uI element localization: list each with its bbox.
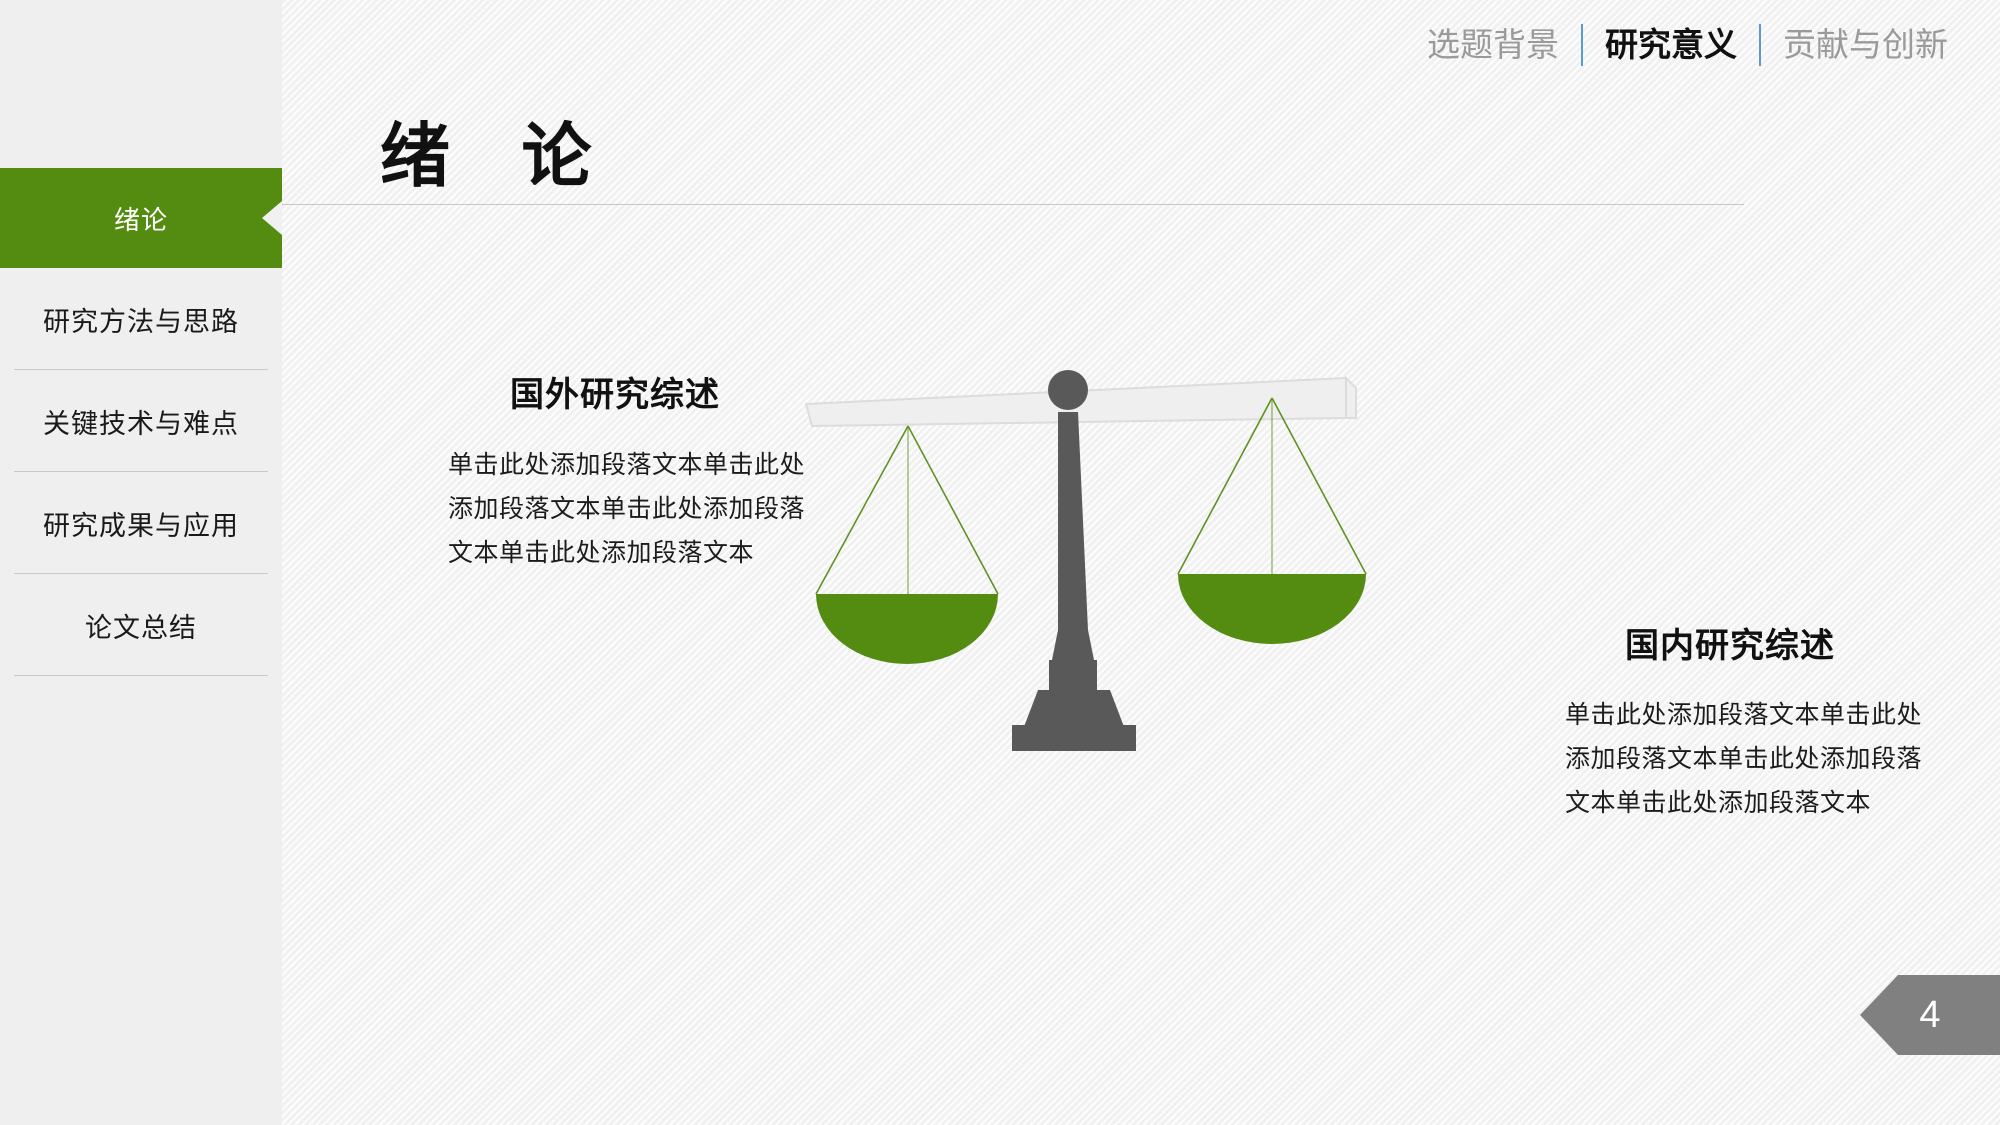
topnav-item-gongxian[interactable]: 贡献与创新: [1761, 24, 1970, 65]
scale-column-icon: [1049, 660, 1097, 690]
left-pan-strings-icon: [816, 426, 998, 594]
sidebar-item-label: 研究方法与思路: [43, 300, 239, 339]
sidebar-item-label: 绪论: [114, 200, 168, 237]
sidebar-item-xulun[interactable]: 绪论: [0, 168, 282, 268]
sidebar-item-label: 论文总结: [85, 606, 197, 645]
sidebar-item-label: 关键技术与难点: [43, 402, 239, 441]
scale-pillar-icon: [1050, 412, 1096, 670]
slide-canvas: 绪论 研究方法与思路 关键技术与难点 研究成果与应用 论文总结 选题背景 研究意…: [0, 0, 2000, 1125]
scale-base-plinth-icon: [1012, 725, 1136, 751]
sidebar-item-lunwenzongjie[interactable]: 论文总结: [0, 574, 282, 676]
left-body-text: 单击此处添加段落文本单击此处添加段落文本单击此处添加段落文本单击此处添加段落文本: [448, 444, 828, 575]
sidebar-item-yanjiuchengguo[interactable]: 研究成果与应用: [0, 472, 282, 574]
left-heading: 国外研究综述: [510, 367, 720, 416]
sidebar-nav: 绪论 研究方法与思路 关键技术与难点 研究成果与应用 论文总结: [0, 0, 282, 1125]
page-number-badge: 4: [1860, 975, 2000, 1055]
sidebar-item-guanjianjishu[interactable]: 关键技术与难点: [0, 370, 282, 472]
sidebar-divider: [14, 675, 268, 676]
page-title: 绪 论: [380, 100, 617, 201]
left-pan-icon: [816, 594, 998, 664]
right-pan-icon: [1178, 574, 1366, 644]
right-body-text: 单击此处添加段落文本单击此处添加段落文本单击此处添加段落文本单击此处添加段落文本: [1565, 694, 1925, 825]
topnav-item-yanjiuyiyi[interactable]: 研究意义: [1583, 24, 1759, 65]
sidebar-item-yanjiufangfa[interactable]: 研究方法与思路: [0, 268, 282, 370]
active-pointer-icon: [262, 201, 282, 235]
title-underline: [282, 204, 1744, 205]
scale-beam-wing-icon: [1346, 378, 1356, 418]
page-number: 4: [1919, 994, 1940, 1037]
balance-scale-graphic: [800, 340, 1440, 860]
sidebar-item-label: 研究成果与应用: [43, 504, 239, 543]
right-pan-strings-icon: [1178, 398, 1366, 574]
scale-pivot-icon: [1048, 370, 1088, 410]
top-section-nav: 选题背景 研究意义 贡献与创新: [1405, 24, 1970, 66]
right-heading: 国内研究综述: [1625, 618, 1835, 667]
topnav-item-xuanti[interactable]: 选题背景: [1405, 24, 1581, 65]
